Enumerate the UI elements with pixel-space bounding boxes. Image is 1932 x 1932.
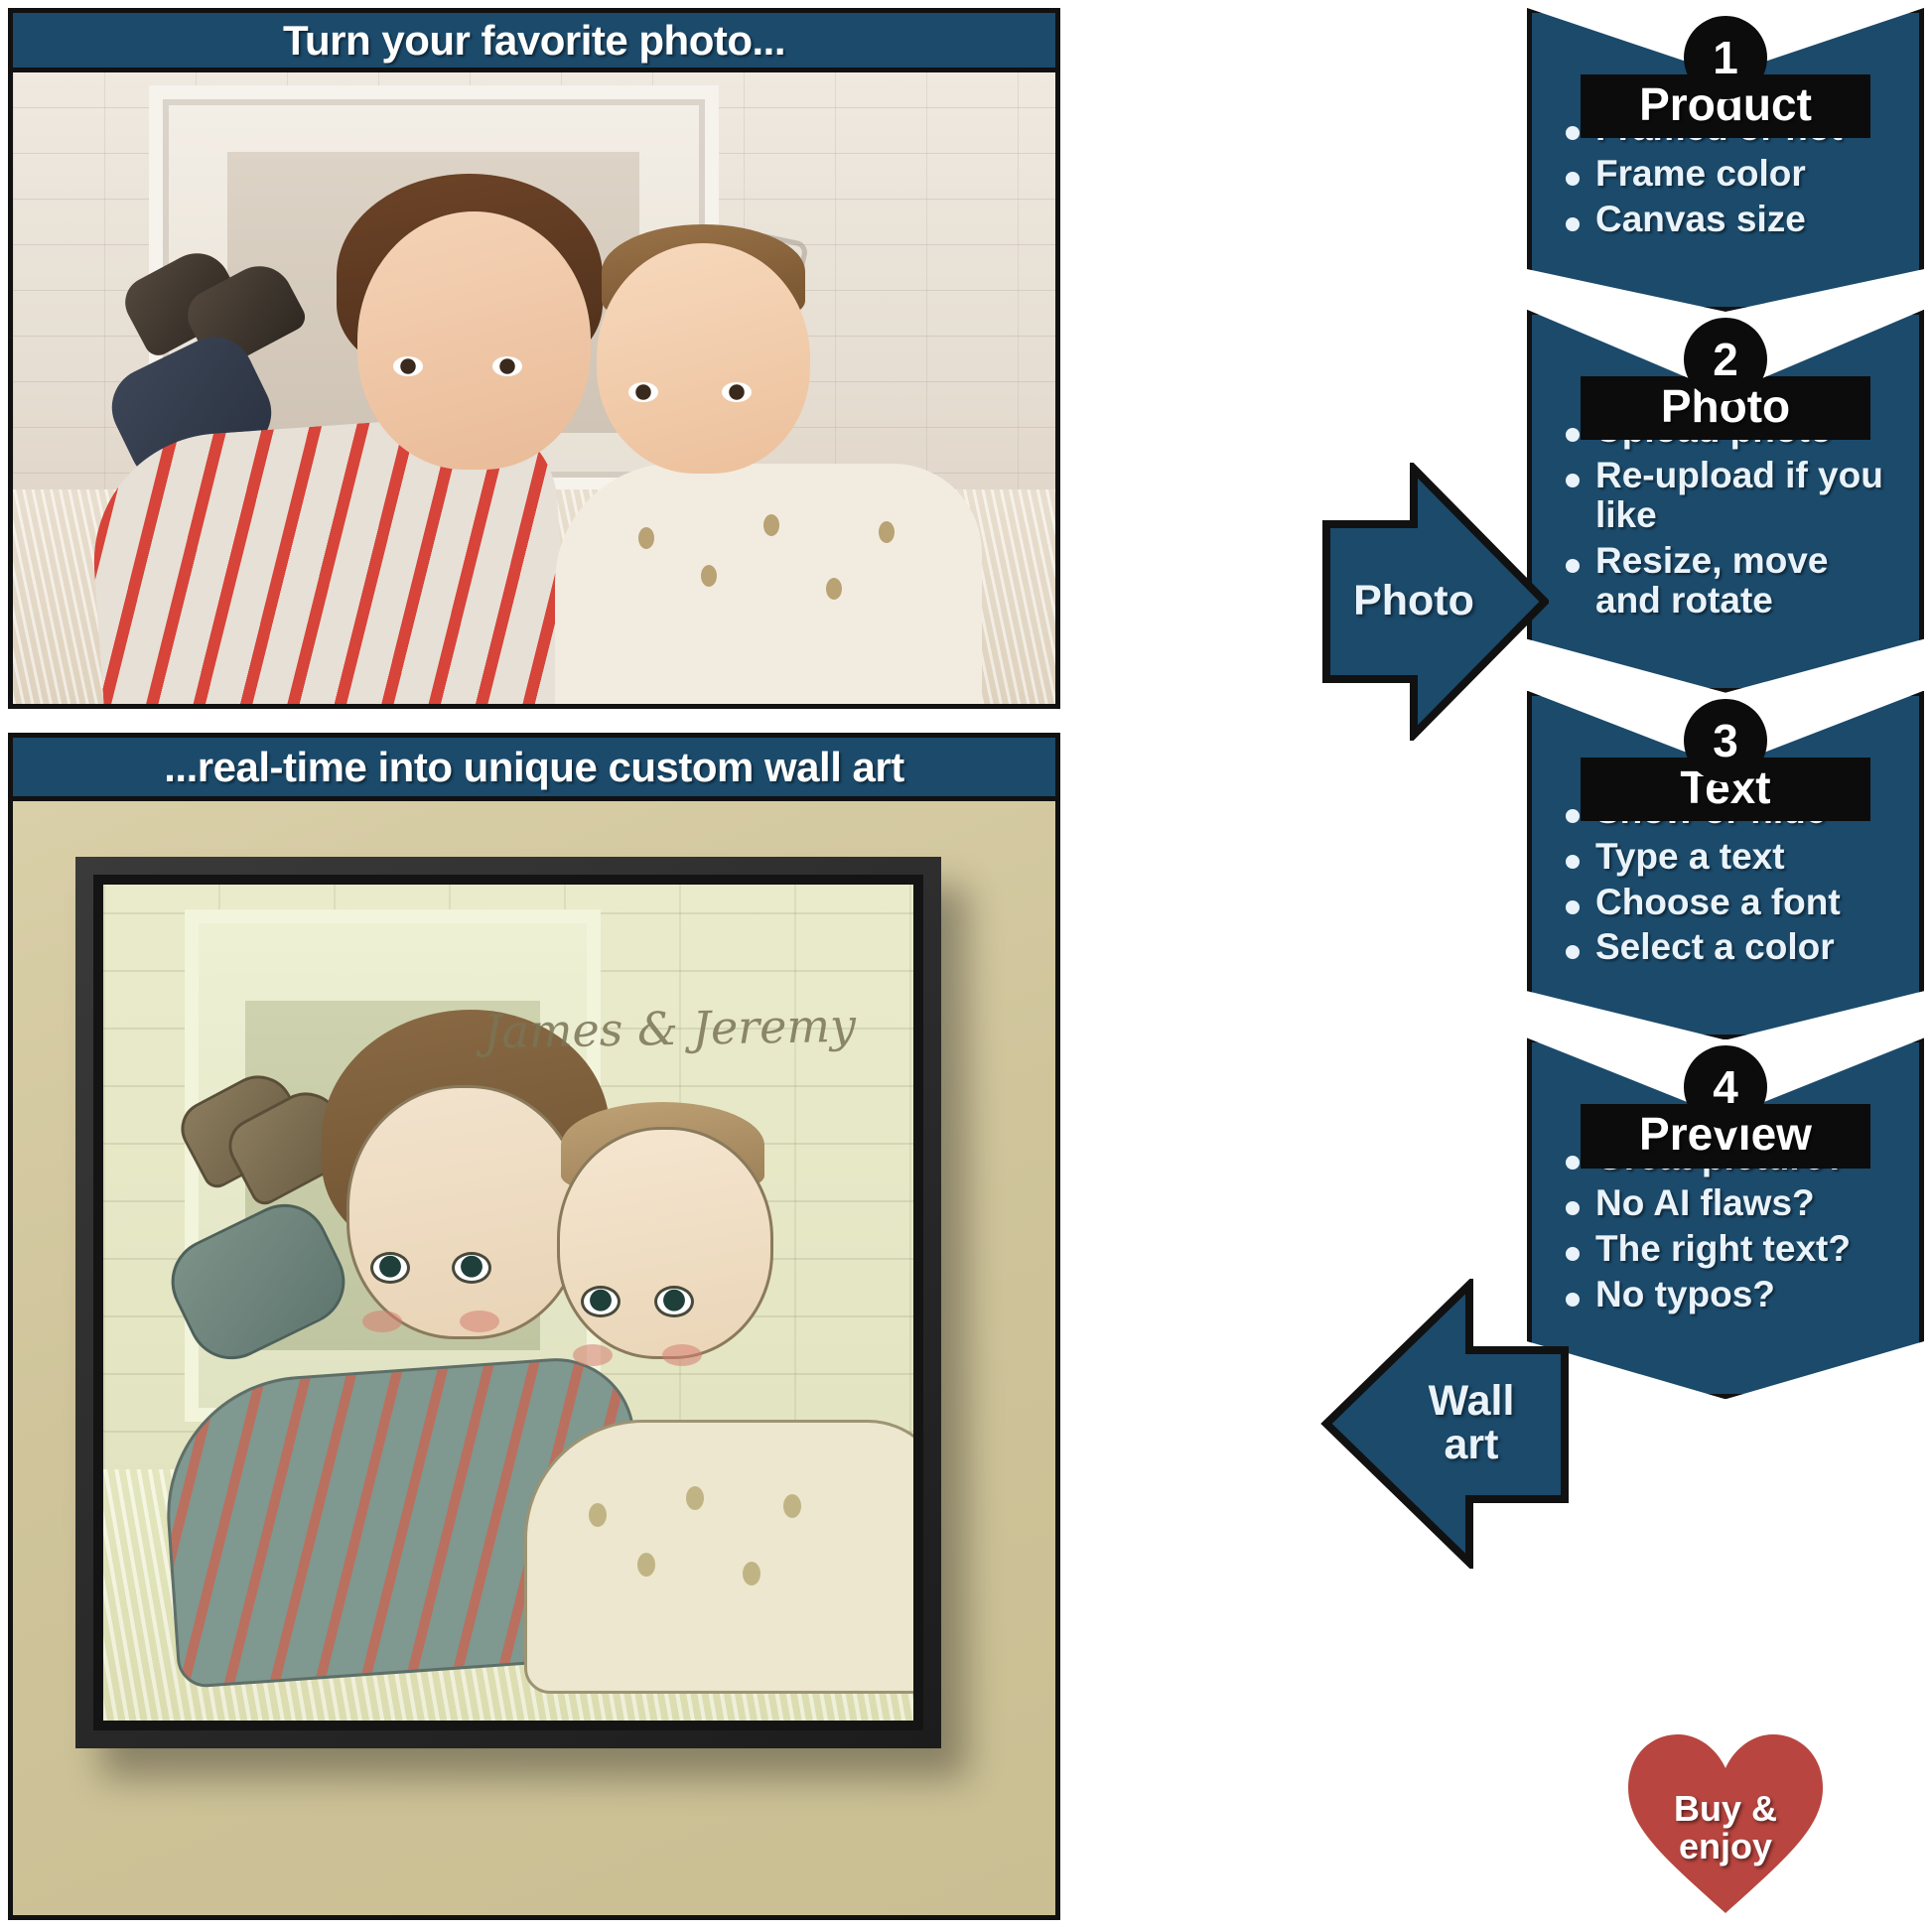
art-child-baby-head <box>557 1127 773 1359</box>
canvas-custom-text: James & Jeremy <box>483 999 857 1059</box>
photo-panel: Turn your favorite photo... <box>8 8 1060 709</box>
photo-pajama-dot <box>879 521 895 543</box>
step-2-photo[interactable]: 2 Photo Upload photo Re-upload if you li… <box>1527 310 1924 693</box>
list-item: Canvas size <box>1556 200 1903 239</box>
step-3-text[interactable]: 3 Text Show or hide Type a text Choose a… <box>1527 691 1924 1040</box>
list-item: Choose a font <box>1556 883 1903 922</box>
canvas-artwork: James & Jeremy <box>93 875 923 1730</box>
infographic-stage: Turn your favorite photo... <box>0 0 1932 1932</box>
photo-pajama-dot <box>701 565 717 587</box>
buy-and-enjoy-label: Buy & enjoy <box>1626 1732 1825 1916</box>
picture-frame: James & Jeremy <box>75 857 941 1748</box>
photo-child-baby-body <box>555 464 982 704</box>
step-4-number: 4 <box>1684 1045 1767 1129</box>
arrow-wall-art-label: Wall art <box>1320 1279 1569 1569</box>
photo-pajama-dot <box>638 527 654 549</box>
list-item: Type a text <box>1556 837 1903 877</box>
step-2-number: 2 <box>1684 318 1767 401</box>
list-item: The right text? <box>1556 1229 1903 1269</box>
art-cheek <box>573 1344 613 1366</box>
wall-art-panel-header: ...real-time into unique custom wall art <box>13 738 1055 801</box>
art-eye <box>654 1286 694 1317</box>
photo-eye <box>722 382 752 402</box>
art-child-older-head <box>346 1085 583 1339</box>
art-pajama-dot <box>743 1562 760 1586</box>
art-child-baby-body <box>524 1420 922 1694</box>
list-item: No AI flaws? <box>1556 1183 1903 1223</box>
art-cheek <box>662 1344 702 1366</box>
photo-scene <box>13 72 1055 704</box>
wall-art-panel: ...real-time into unique custom wall art <box>8 733 1060 1920</box>
arrow-photo-text: Photo <box>1353 580 1474 623</box>
arrow-photo-label: Photo <box>1322 463 1549 741</box>
list-item: Re-upload if you like <box>1556 456 1903 535</box>
step-1-product[interactable]: 1 Product Framed or not Frame color Canv… <box>1527 8 1924 312</box>
list-item: No typos? <box>1556 1275 1903 1314</box>
step-4-preview[interactable]: 4 Preview Great picture? No AI flaws? Th… <box>1527 1037 1924 1399</box>
photo-panel-header: Turn your favorite photo... <box>13 13 1055 72</box>
photo-child-older-head <box>357 211 591 470</box>
arrow-wall-art-text-2: art <box>1445 1424 1499 1467</box>
wall-art-panel-image: James & Jeremy <box>13 801 1055 1915</box>
step-3-number: 3 <box>1684 699 1767 782</box>
arrow-photo: Photo <box>1322 463 1549 741</box>
left-column: Turn your favorite photo... <box>8 8 1060 1924</box>
photo-panel-image <box>13 72 1055 704</box>
step-1-number: 1 <box>1684 16 1767 99</box>
art-eye <box>581 1286 621 1317</box>
art-eye <box>452 1252 491 1284</box>
photo-child-baby-head <box>597 243 810 474</box>
buy-and-enjoy-cta[interactable]: Buy & enjoy <box>1626 1732 1825 1916</box>
list-item: Resize, move and rotate <box>1556 541 1903 621</box>
step-2-bullets: Upload photo Re-upload if you like Resiz… <box>1542 410 1909 621</box>
photo-eye <box>628 382 658 402</box>
cta-line-1: Buy & <box>1674 1790 1777 1828</box>
steps-column: 1 Product Framed or not Frame color Canv… <box>1527 8 1924 1397</box>
photo-pajama-dot <box>826 578 842 600</box>
arrow-wall-art: Wall art <box>1320 1279 1569 1569</box>
arrow-wall-art-text-1: Wall <box>1429 1380 1515 1424</box>
list-item: Frame color <box>1556 154 1903 194</box>
cta-line-2: enjoy <box>1679 1828 1772 1865</box>
list-item: Select a color <box>1556 927 1903 967</box>
